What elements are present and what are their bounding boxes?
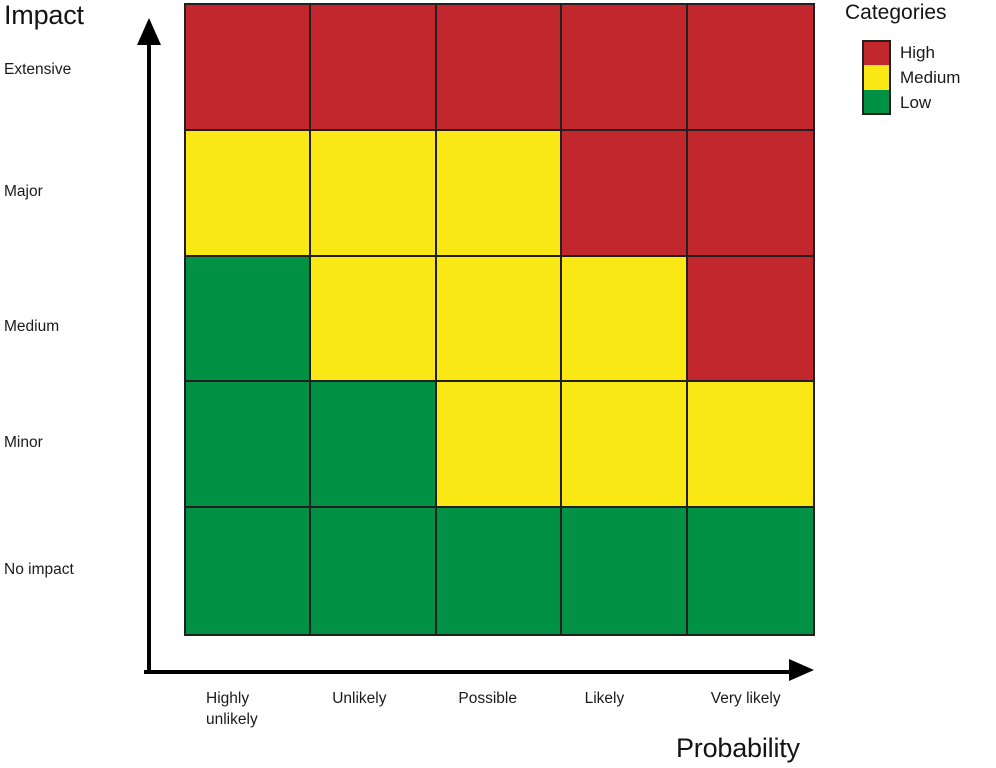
matrix-cell[interactable] <box>437 5 562 131</box>
legend-swatch-high <box>862 40 891 65</box>
y-axis-line <box>144 18 154 674</box>
x-axis-tick-possible: Possible <box>436 688 562 744</box>
matrix-cell[interactable] <box>311 257 436 383</box>
matrix-cell[interactable] <box>437 508 562 634</box>
risk-matrix-grid <box>184 3 815 636</box>
legend-item[interactable]: Medium <box>862 65 992 90</box>
matrix-cell[interactable] <box>562 382 687 508</box>
x-axis-shaft <box>144 670 794 674</box>
x-tick-line-1: Highly <box>206 690 249 707</box>
matrix-cell[interactable] <box>562 257 687 383</box>
matrix-cell[interactable] <box>311 131 436 257</box>
matrix-cell[interactable] <box>562 5 687 131</box>
matrix-cell[interactable] <box>311 508 436 634</box>
x-tick-line-2: unlikely <box>206 711 258 728</box>
arrow-right-icon <box>789 659 814 681</box>
y-axis-tick-minor: Minor <box>4 433 134 453</box>
legend-swatch-medium <box>862 65 891 90</box>
matrix-cell[interactable] <box>311 382 436 508</box>
matrix-cell[interactable] <box>688 5 813 131</box>
legend-item[interactable]: Low <box>862 90 992 115</box>
matrix-cell[interactable] <box>688 257 813 383</box>
x-axis-tick-unlikely: Unlikely <box>310 688 436 744</box>
legend-label: Low <box>900 90 931 115</box>
matrix-cell[interactable] <box>437 257 562 383</box>
matrix-cell[interactable] <box>562 508 687 634</box>
matrix-cell[interactable] <box>311 5 436 131</box>
legend-label: Medium <box>900 65 960 90</box>
y-axis-title: Impact <box>4 0 84 32</box>
matrix-cell[interactable] <box>437 131 562 257</box>
y-axis-shaft <box>147 38 151 674</box>
legend-label: High <box>900 40 935 65</box>
x-axis-tick-labels: Highly unlikely Unlikely Possible Likely… <box>184 688 815 744</box>
x-axis-tick-very-likely: Very likely <box>689 688 815 744</box>
matrix-cell[interactable] <box>186 257 311 383</box>
matrix-cell[interactable] <box>688 382 813 508</box>
legend-items: HighMediumLow <box>862 40 992 115</box>
y-axis-tick-medium: Medium <box>4 317 134 337</box>
matrix-cell[interactable] <box>688 508 813 634</box>
matrix-cell[interactable] <box>437 382 562 508</box>
matrix-cell[interactable] <box>186 131 311 257</box>
y-axis-tick-extensive: Extensive <box>4 60 134 80</box>
y-axis-tick-major: Major <box>4 182 134 202</box>
matrix-cell[interactable] <box>562 131 687 257</box>
legend-swatch-low <box>862 90 891 115</box>
matrix-cell[interactable] <box>688 131 813 257</box>
matrix-cell[interactable] <box>186 508 311 634</box>
matrix-cell[interactable] <box>186 382 311 508</box>
legend-title: Categories <box>845 0 947 26</box>
y-axis-tick-no-impact: No impact <box>4 560 134 580</box>
x-axis-line <box>144 666 816 678</box>
matrix-cell[interactable] <box>186 5 311 131</box>
x-axis-tick-likely: Likely <box>563 688 689 744</box>
legend-item[interactable]: High <box>862 40 992 65</box>
x-axis-tick-highly-unlikely: Highly unlikely <box>184 688 310 744</box>
